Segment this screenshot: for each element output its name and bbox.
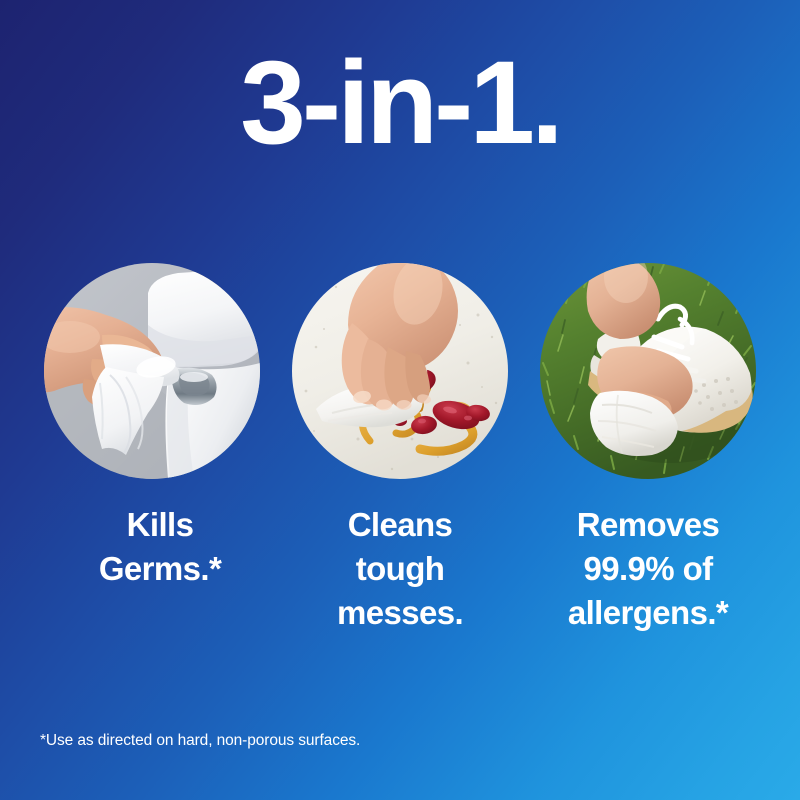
benefit-image-cleans-tough-messes	[292, 263, 508, 479]
caption-line: Germs.*	[35, 547, 285, 591]
advertisement-canvas: 3-in-1.	[0, 0, 800, 800]
countertop-jam-spill-wipe-photo	[292, 263, 508, 479]
benefit-image-row	[0, 263, 800, 479]
benefit-caption-row: Kills Germs.* Cleans tough messes. Remov…	[0, 503, 800, 643]
caption-line: Removes	[523, 503, 773, 547]
caption-line: tough	[275, 547, 525, 591]
benefit-caption-removes-allergens: Removes 99.9% of allergens.*	[523, 503, 773, 635]
sneaker-on-grass-wipe-photo	[540, 263, 756, 479]
caption-line: Cleans	[275, 503, 525, 547]
benefit-image-removes-allergens	[540, 263, 756, 479]
benefit-caption-kills-germs: Kills Germs.*	[35, 503, 285, 591]
caption-line: Kills	[35, 503, 285, 547]
caption-line: allergens.*	[523, 591, 773, 635]
footnote-disclaimer: *Use as directed on hard, non-porous sur…	[40, 731, 360, 751]
benefit-image-kills-germs	[44, 263, 260, 479]
caption-line: 99.9% of	[523, 547, 773, 591]
benefit-caption-cleans-tough-messes: Cleans tough messes.	[275, 503, 525, 635]
page-title: 3-in-1.	[0, 44, 800, 162]
caption-line: messes.	[275, 591, 525, 635]
toilet-flush-handle-wipe-photo	[44, 263, 260, 479]
